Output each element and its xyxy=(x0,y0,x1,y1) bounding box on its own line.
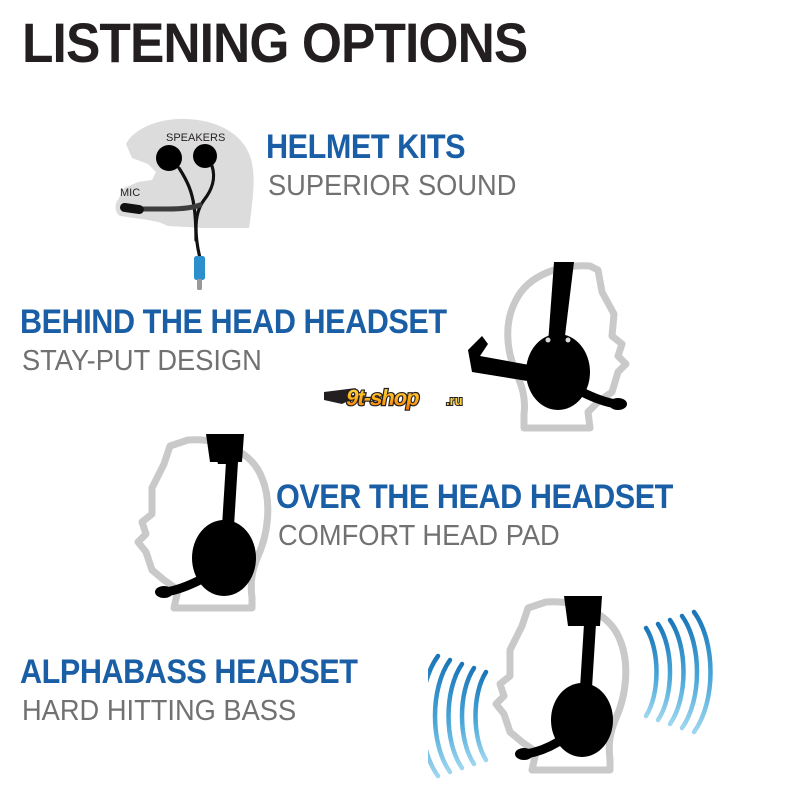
sound-waves-left xyxy=(428,656,486,776)
boom-mic-tip xyxy=(515,748,533,760)
headband-pad xyxy=(564,596,602,626)
watermark-logo: 9t-shop .ru xyxy=(322,378,484,418)
option-title-alphabass-headset: ALPHABASS HEADSET xyxy=(20,653,357,692)
page-title: LISTENING OPTIONS xyxy=(22,8,527,78)
infographic-canvas: LISTENING OPTIONS SPEAKERS MIC xyxy=(0,0,800,800)
option-subtitle-helmet-kits: SUPERIOR SOUND xyxy=(268,170,516,203)
earcup-pivot-dot-right xyxy=(566,338,571,343)
option-subtitle-over-the-head-headset: COMFORT HEAD PAD xyxy=(278,520,560,553)
earcup xyxy=(192,520,256,596)
option-title-over-the-head-headset: OVER THE HEAD HEADSET xyxy=(276,478,673,517)
helmet-kit-illustration: SPEAKERS MIC xyxy=(108,108,278,293)
headband-pad xyxy=(206,434,244,462)
option-title-helmet-kits: HELMET KITS xyxy=(266,128,465,167)
sound-waves-right xyxy=(646,612,711,732)
jack-plug-body xyxy=(194,256,205,280)
speakers-label: SPEAKERS xyxy=(166,132,225,144)
mic-label: MIC xyxy=(120,187,140,199)
boom-mic-tip xyxy=(609,398,627,410)
jack-plug-tip xyxy=(197,279,202,290)
watermark-text: 9t-shop xyxy=(344,385,421,410)
earcup-pivot-dot-left xyxy=(546,338,551,343)
alphabass-headset-illustration xyxy=(428,588,728,788)
earcup xyxy=(526,334,590,410)
speaker-right-icon xyxy=(193,144,217,168)
boom-mic-tip xyxy=(155,586,173,598)
earcup xyxy=(551,683,613,757)
watermark-suffix: .ru xyxy=(446,393,463,408)
option-subtitle-behind-the-head-headset: STAY-PUT DESIGN xyxy=(22,345,262,378)
option-subtitle-alphabass-headset: HARD HITTING BASS xyxy=(22,695,296,728)
behind-the-head-headset-illustration xyxy=(462,252,662,437)
option-title-behind-the-head-headset: BEHIND THE HEAD HEADSET xyxy=(20,303,447,342)
jack-cable xyxy=(196,228,200,258)
